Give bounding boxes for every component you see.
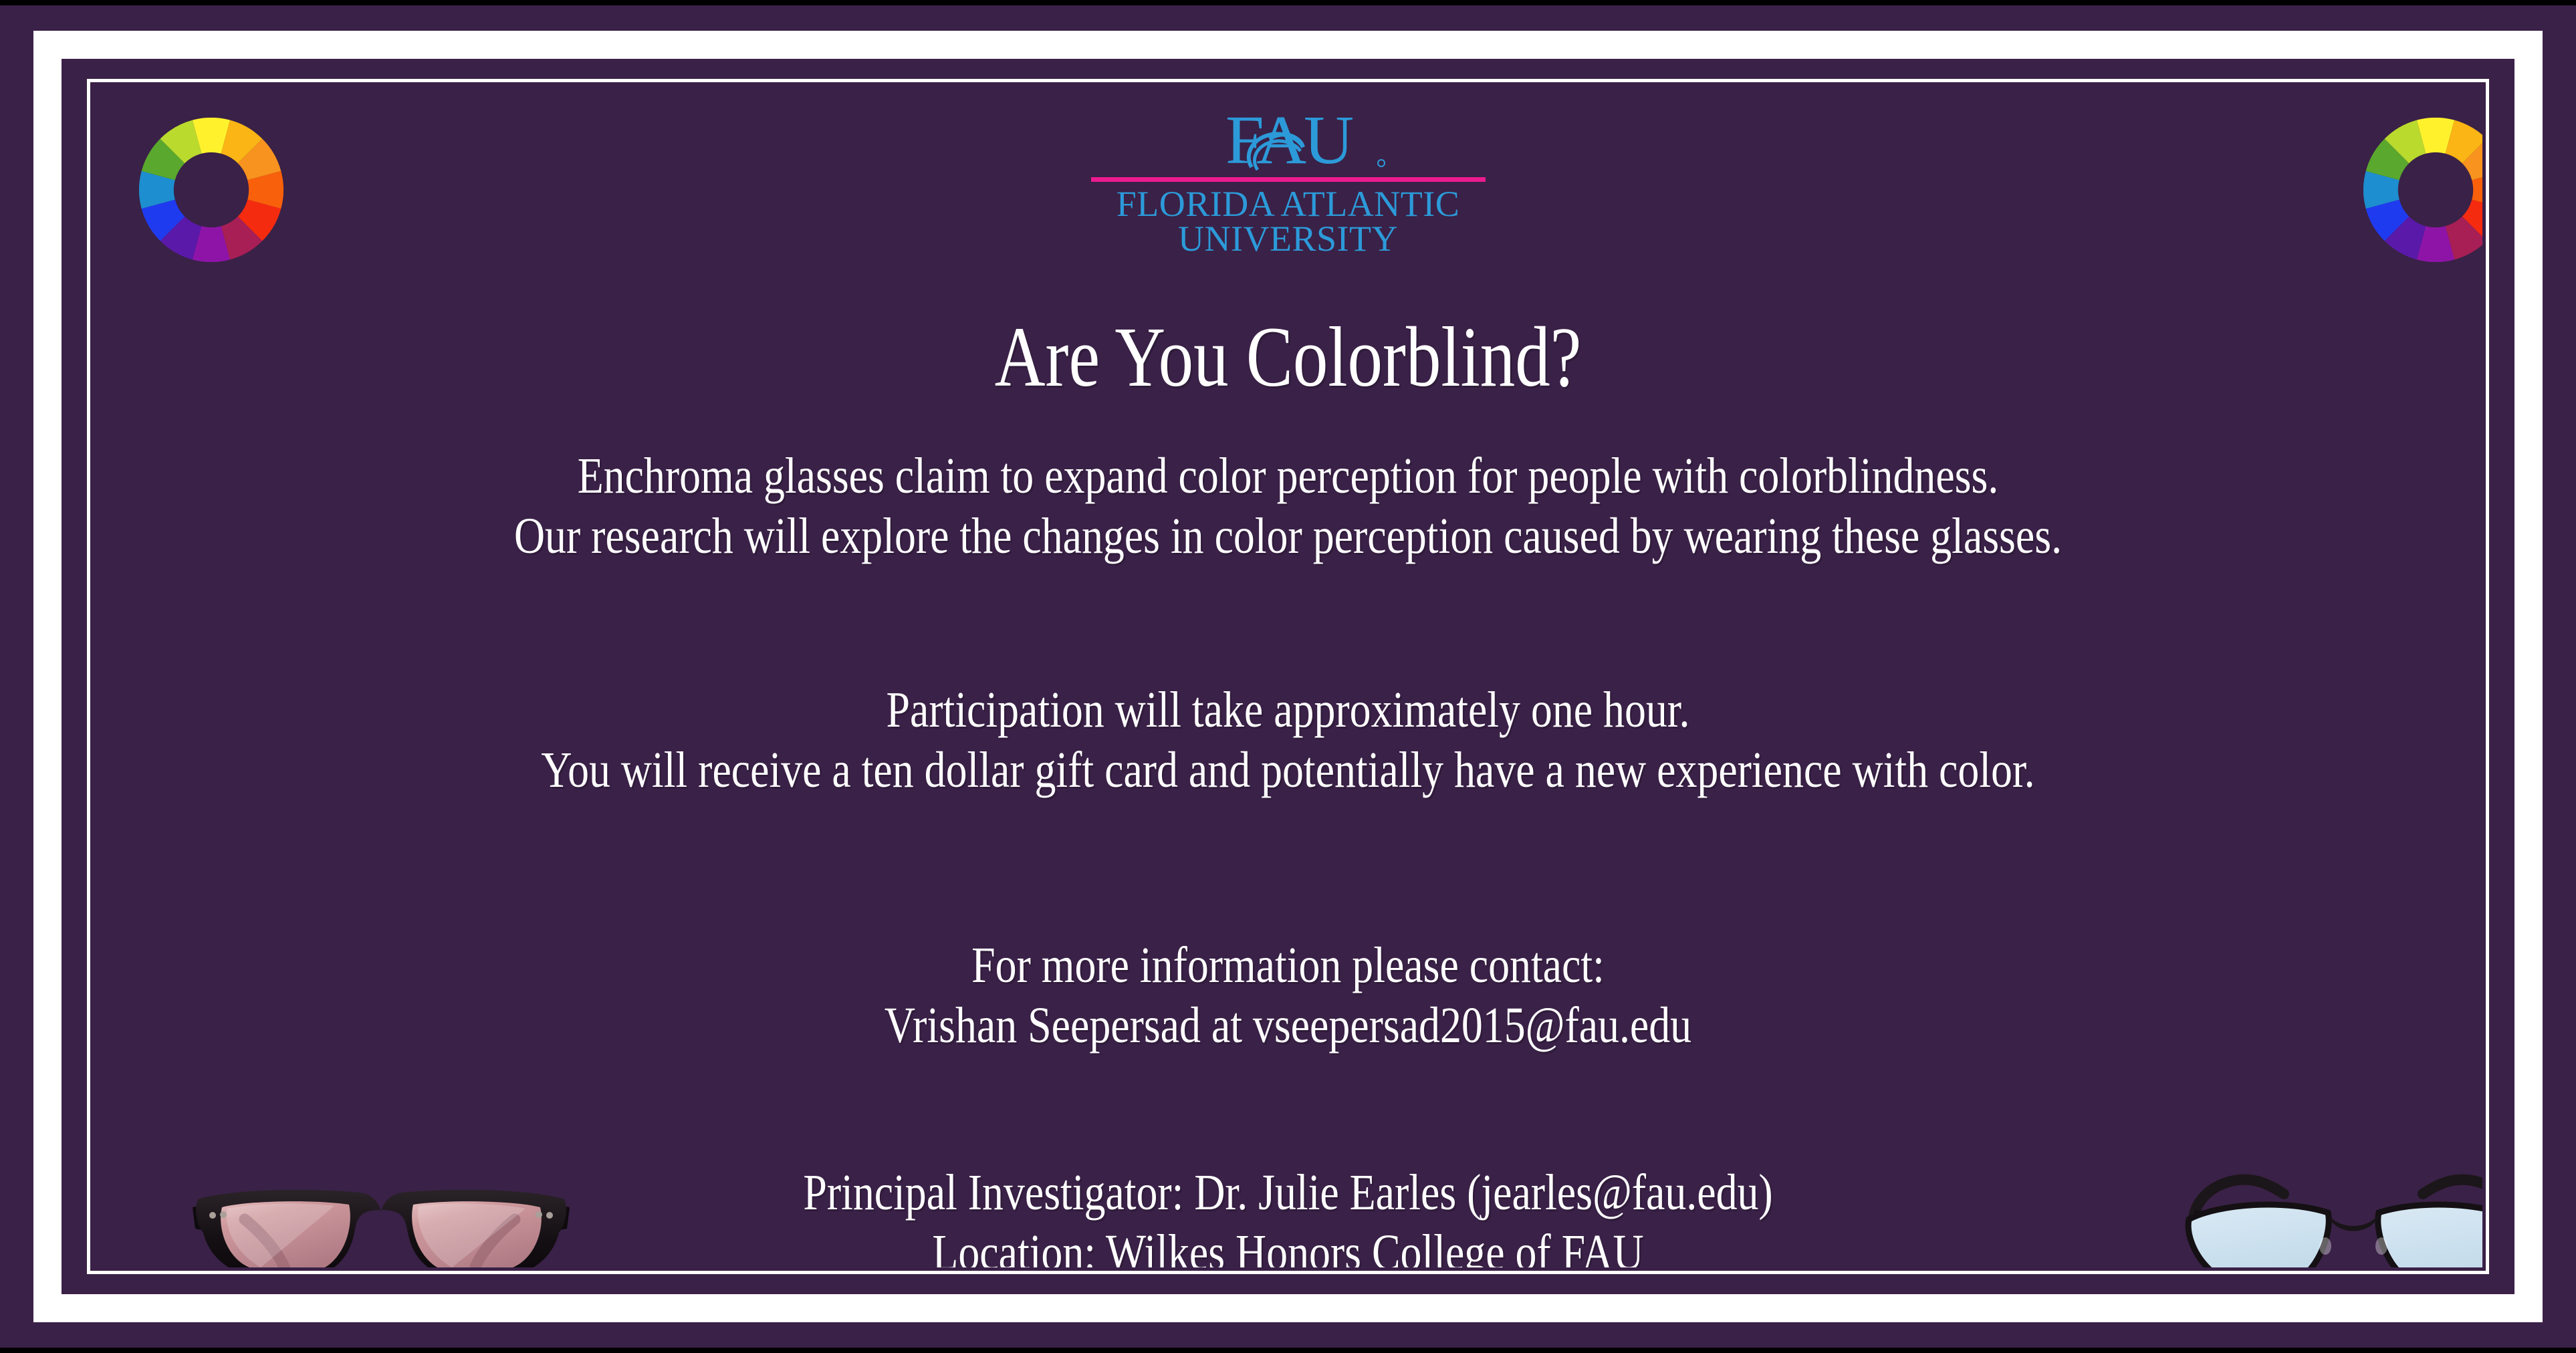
- fau-logo: FAU FLORIDA ATLANTIC UNIVERSITY: [94, 110, 2482, 257]
- top-edge-strip: [0, 0, 2576, 5]
- footer-block: Principal Investigator: Dr. Julie Earles…: [285, 1163, 2291, 1267]
- fau-wordmark-line2: UNIVERSITY: [1117, 221, 1460, 257]
- fau-pink-rule: [1091, 177, 1486, 182]
- participation-line-1: Participation will take approximately on…: [285, 681, 2291, 741]
- fau-wave-mark-icon: FAU: [1188, 110, 1389, 174]
- poster-canvas: FAU FLORIDA ATLANTIC UNIVERSITY Are You …: [0, 5, 2576, 1348]
- fau-wordmark: FLORIDA ATLANTIC UNIVERSITY: [1117, 186, 1460, 257]
- contact-email-line[interactable]: Vrishan Seepersad at vseepersad2015@fau.…: [285, 996, 2291, 1056]
- page-title: Are You Colorblind?: [309, 314, 2268, 400]
- enchroma-sunglasses-icon: [181, 1155, 582, 1267]
- outer-white-frame: FAU FLORIDA ATLANTIC UNIVERSITY Are You …: [33, 31, 2543, 1322]
- purple-frame-band: FAU FLORIDA ATLANTIC UNIVERSITY Are You …: [62, 59, 2514, 1294]
- claim-line-1: Enchroma glasses claim to expand color p…: [285, 447, 2291, 507]
- poster-content: FAU FLORIDA ATLANTIC UNIVERSITY Are You …: [94, 86, 2482, 1267]
- principal-investigator-line[interactable]: Principal Investigator: Dr. Julie Earles…: [285, 1163, 2291, 1223]
- contact-block: For more information please contact: Vri…: [285, 936, 2291, 1056]
- claim-line-2: Our research will explore the changes in…: [285, 507, 2291, 567]
- bottom-edge-strip: [0, 1348, 2576, 1353]
- eyeglasses-icon: [2153, 1155, 2482, 1267]
- claim-block: Enchroma glasses claim to expand color p…: [285, 447, 2291, 566]
- location-line: Location: Wilkes Honors College of FAU: [285, 1223, 2291, 1267]
- participation-block: Participation will take approximately on…: [285, 681, 2291, 800]
- participation-line-2: You will receive a ten dollar gift card …: [285, 741, 2291, 801]
- fau-wordmark-line1: FLORIDA ATLANTIC: [1117, 186, 1460, 222]
- inner-white-rule: FAU FLORIDA ATLANTIC UNIVERSITY Are You …: [87, 79, 2489, 1274]
- contact-line-1: For more information please contact:: [285, 936, 2291, 996]
